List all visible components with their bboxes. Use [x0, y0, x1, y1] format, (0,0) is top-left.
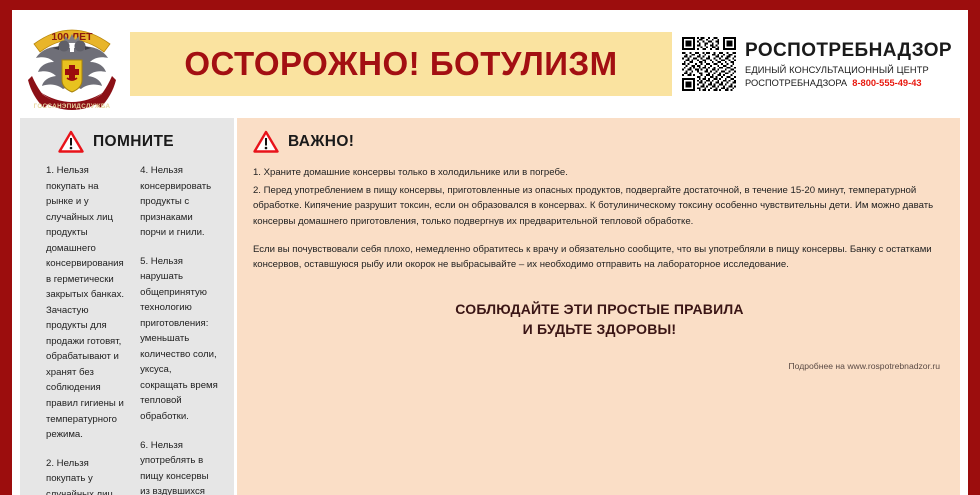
brand-text: РОСПОТРЕБНАДЗОР ЕДИНЫЙ КОНСУЛЬТАЦИОННЫЙ …: [745, 39, 952, 90]
important-panel: ВАЖНО! 1. Храните домашние консервы толь…: [237, 118, 960, 495]
title-banner: ОСТОРОЖНО! БОТУЛИЗМ: [130, 32, 672, 96]
poster-inner-frame: 100 ЛЕТ: [12, 10, 968, 473]
warning-triangle-icon: [253, 130, 279, 153]
remember-item: 4. Нельзя консервировать продукты с приз…: [140, 163, 220, 241]
brand-org-name: РОСПОТРЕБНАДЗОРА: [745, 78, 847, 88]
poster-body: ПОМНИТЕ 1. Нельзя покупать на рынке и у …: [12, 118, 968, 495]
remember-panel: ПОМНИТЕ 1. Нельзя покупать на рынке и у …: [20, 118, 234, 495]
remember-column-2: 4. Нельзя консервировать продукты с приз…: [140, 163, 220, 495]
slogan: СОБЛЮДАЙТЕ ЭТИ ПРОСТЫЕ ПРАВИЛА И БУДЬТЕ …: [253, 299, 946, 340]
remember-item: 6. Нельзя употреблять в пищу консервы из…: [140, 438, 220, 495]
remember-item: 5. Нельзя нарушать общепринятую технолог…: [140, 254, 220, 425]
more-info-link[interactable]: Подробнее на www.rospotrebnadzor.ru: [253, 361, 946, 371]
hotline-phone[interactable]: 8-800-555-49-43: [852, 78, 921, 88]
page-title: ОСТОРОЖНО! БОТУЛИЗМ: [184, 45, 617, 83]
qr-code-icon[interactable]: [682, 37, 736, 91]
important-item-2: 2. Перед употреблением в пищу консервы, …: [253, 183, 946, 230]
brand-block: РОСПОТРЕБНАДЗОР ЕДИНЫЙ КОНСУЛЬТАЦИОННЫЙ …: [682, 37, 962, 91]
brand-subline-1: ЕДИНЫЙ КОНСУЛЬТАЦИОННЫЙ ЦЕНТР: [745, 65, 952, 77]
important-heading-label: ВАЖНО!: [288, 133, 354, 151]
poster-header: 100 ЛЕТ: [12, 10, 968, 118]
remember-columns: 1. Нельзя покупать на рынке и у случайны…: [20, 153, 234, 495]
warning-triangle-icon: [58, 130, 84, 153]
important-item-1: 1. Храните домашние консервы только в хо…: [253, 165, 946, 181]
rospotrebnadzor-emblem-icon: 100 ЛЕТ: [20, 14, 124, 116]
important-heading: ВАЖНО!: [253, 130, 946, 153]
slogan-line-2: И БУДЬТЕ ЗДОРОВЫ!: [253, 319, 946, 339]
poster-root: 100 ЛЕТ: [0, 0, 980, 495]
slogan-line-1: СОБЛЮДАЙТЕ ЭТИ ПРОСТЫЕ ПРАВИЛА: [253, 299, 946, 319]
brand-subline-2: РОСПОТРЕБНАДЗОРА 8-800-555-49-43: [745, 78, 952, 90]
remember-item: 2. Нельзя покупать у случайных лиц проду…: [46, 456, 126, 495]
svg-text:ГОССАНЭПИДСЛУЖБА: ГОССАНЭПИДСЛУЖБА: [34, 103, 111, 110]
important-note: Если вы почувствовали себя плохо, немедл…: [253, 242, 946, 273]
remember-column-1: 1. Нельзя покупать на рынке и у случайны…: [46, 163, 126, 495]
remember-heading: ПОМНИТЕ: [20, 118, 234, 153]
remember-heading-label: ПОМНИТЕ: [93, 133, 174, 151]
brand-name: РОСПОТРЕБНАДЗОР: [745, 39, 952, 63]
remember-item: 1. Нельзя покупать на рынке и у случайны…: [46, 163, 126, 443]
